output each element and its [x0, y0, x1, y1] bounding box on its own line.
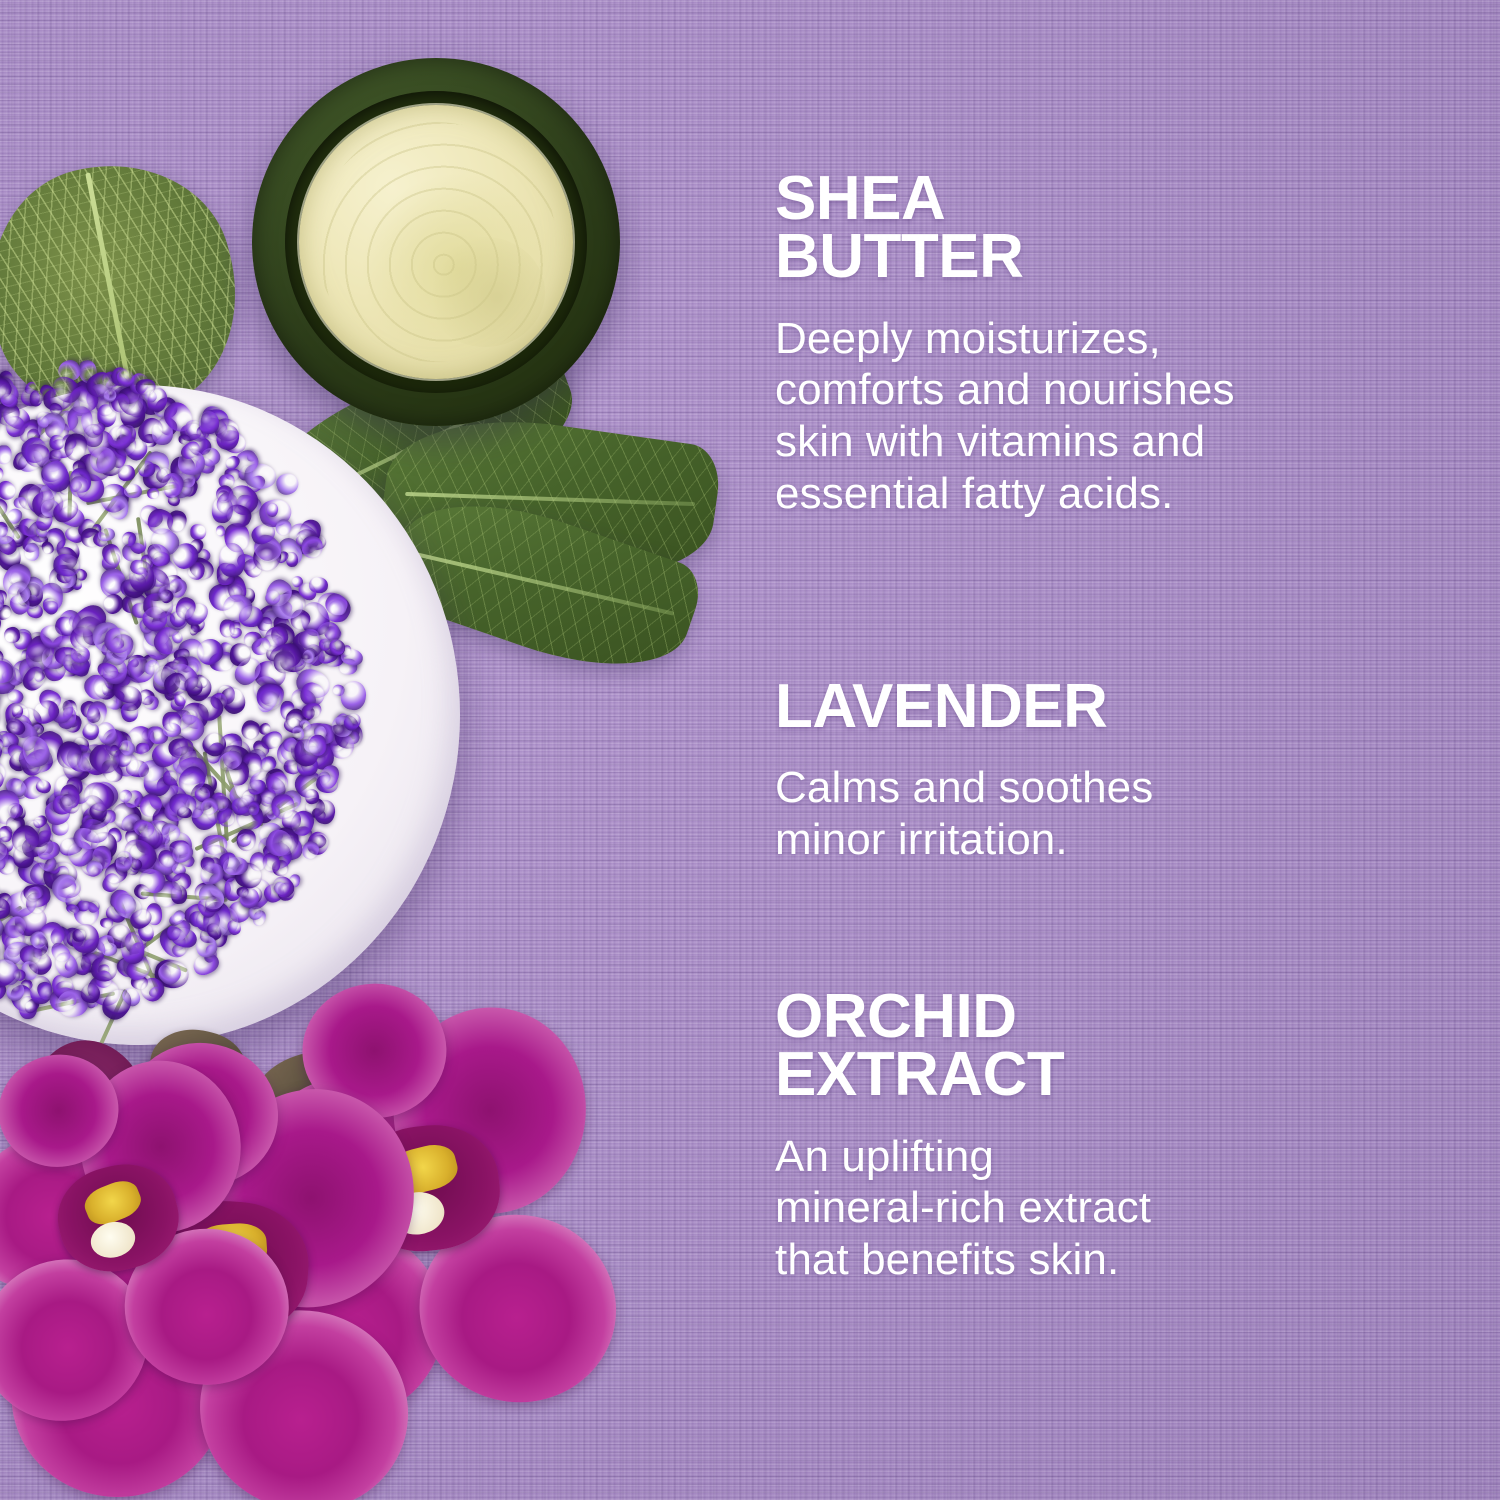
lavender-floret	[108, 495, 128, 520]
lavender-floret	[117, 464, 135, 481]
lavender-floret	[286, 552, 298, 568]
ingredient-description-lavender: Calms and soothes minor irritation.	[775, 762, 1153, 866]
lavender-floret	[142, 694, 160, 712]
lavender-floret	[136, 742, 150, 754]
lavender-floret	[72, 928, 87, 941]
bowl-interior	[285, 91, 587, 393]
ingredient-block-shea-butter: SHEABUTTER Deeply moisturizes, comforts …	[775, 170, 1235, 520]
lavender-floret	[52, 795, 72, 814]
lavender-floret	[123, 483, 142, 499]
shea-butter-bowl	[252, 58, 620, 426]
ingredient-block-orchid-extract: ORCHIDEXTRACT An uplifting mineral-rich …	[775, 988, 1151, 1286]
ingredient-heading-lavender: LAVENDER	[775, 678, 1153, 736]
lavender-floret	[163, 723, 181, 737]
lavender-floret	[28, 390, 43, 408]
lavender-floret	[239, 606, 264, 628]
lavender-floret	[219, 542, 245, 576]
ingredient-block-lavender: LAVENDER Calms and soothes minor irritat…	[775, 678, 1153, 866]
whipped-shea-butter	[299, 105, 573, 379]
ingredient-text-column: SHEABUTTER Deeply moisturizes, comforts …	[775, 0, 1395, 1500]
lavender-floret	[99, 918, 112, 928]
ingredient-heading-orchid-extract: ORCHIDEXTRACT	[775, 988, 1151, 1105]
lavender-floret	[0, 466, 4, 482]
product-ingredient-infographic: SHEABUTTER Deeply moisturizes, comforts …	[0, 0, 1500, 1500]
ingredient-description-orchid-extract: An uplifting mineral-rich extract that b…	[775, 1131, 1151, 1287]
lavender-floret	[0, 444, 12, 464]
lavender-floret	[146, 487, 160, 500]
ingredient-heading-shea-butter: SHEABUTTER	[775, 170, 1235, 287]
ingredient-description-shea-butter: Deeply moisturizes, comforts and nourish…	[775, 313, 1235, 521]
